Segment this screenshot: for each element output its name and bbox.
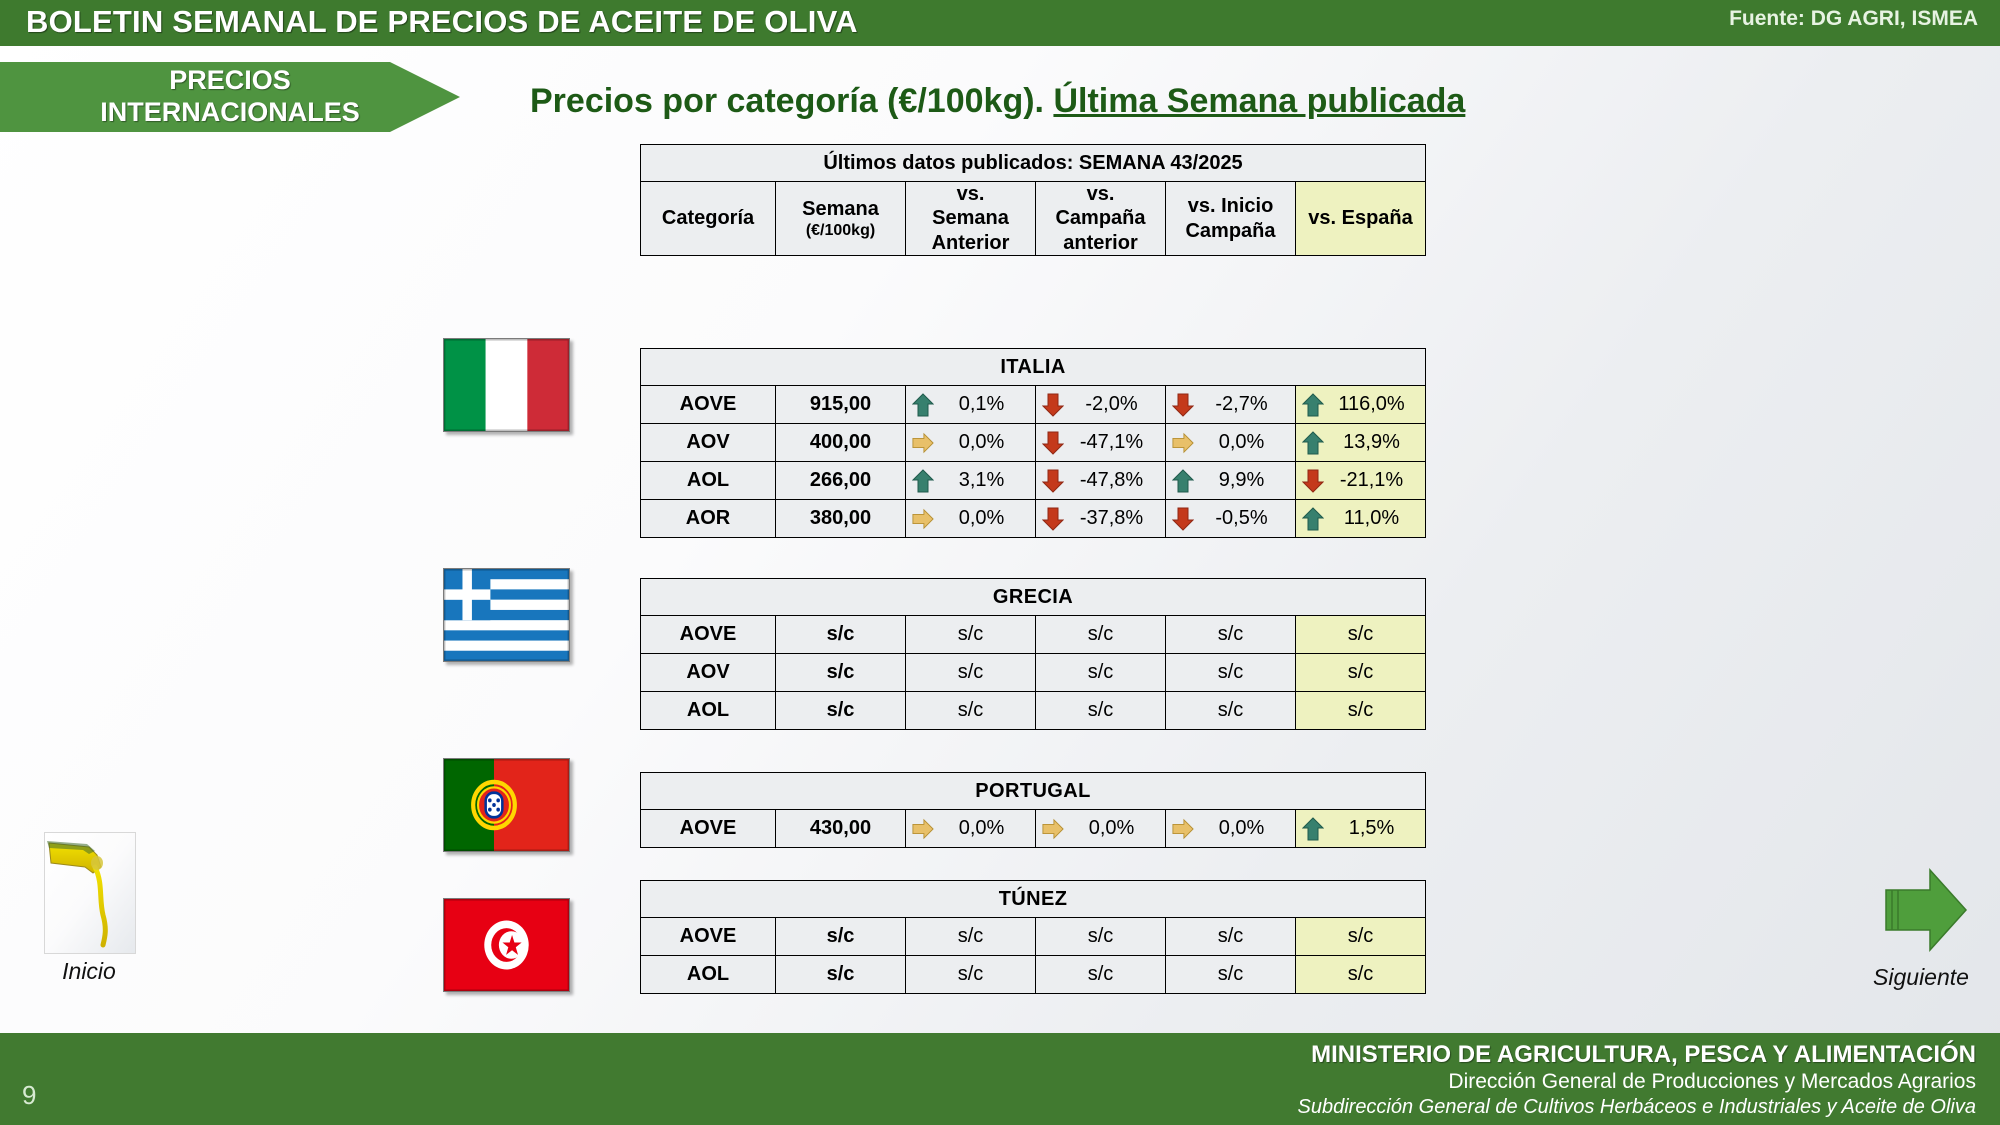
delta-vs-inicio-cell: s/c: [1166, 956, 1296, 994]
next-nav-button[interactable]: Siguiente: [1868, 868, 1968, 954]
arrow-down-icon: [1042, 393, 1064, 417]
table-column-header-row: Categoría Semana (€/100kg) vs. Semana An…: [641, 182, 1426, 256]
arrow-right-icon: [912, 431, 934, 455]
category-cell: AOL: [641, 462, 776, 500]
delta-vs-semana-cell: s/c: [906, 616, 1036, 654]
country-banner-italia: ITALIA: [641, 349, 1426, 386]
price-cell: 400,00: [776, 424, 906, 462]
delta-vs-semana-cell: 0,0%: [906, 424, 1036, 462]
price-cell: 430,00: [776, 810, 906, 848]
next-nav-label: Siguiente: [1846, 964, 1996, 991]
country-table-portugal: PORTUGAL AOVE 430,00 0,0% 0,0% 0,0% 1,5%: [640, 772, 1426, 848]
table-row: AOR 380,00 0,0% -37,8% -0,5% 11,0%: [641, 500, 1426, 538]
delta-vs-semana-cell: s/c: [906, 654, 1036, 692]
table-row: AOV 400,00 0,0% -47,1% 0,0% 13,9%: [641, 424, 1426, 462]
delta-vs-espana-cell: s/c: [1296, 918, 1426, 956]
page-number: 9: [22, 1080, 36, 1111]
slide-title: Precios por categoría (€/100kg). Última …: [530, 82, 1465, 121]
price-cell: 915,00: [776, 386, 906, 424]
delta-vs-inicio-cell: s/c: [1166, 918, 1296, 956]
delta-vs-espana-cell: s/c: [1296, 654, 1426, 692]
portugal-table: PORTUGAL AOVE 430,00 0,0% 0,0% 0,0% 1,5%: [640, 772, 1426, 848]
footer-ministry: MINISTERIO DE AGRICULTURA, PESCA Y ALIME…: [1298, 1041, 1977, 1069]
flag-italy-icon: [443, 338, 570, 432]
delta-vs-campana-cell: -37,8%: [1036, 500, 1166, 538]
country-table-tunez: TÚNEZ AOVE s/c s/c s/c s/c s/c AOL s/c s…: [640, 880, 1426, 994]
column-header-vs-campana-anterior: vs. Campaña anterior: [1036, 182, 1166, 256]
country-name-italia: ITALIA: [641, 349, 1426, 386]
column-header-semana-label: Semana: [802, 198, 879, 220]
slide-title-underlined: Última Semana publicada: [1053, 82, 1465, 120]
flag-tunisia-icon: [443, 898, 570, 992]
delta-vs-espana-cell: s/c: [1296, 616, 1426, 654]
delta-vs-inicio-cell: 9,9%: [1166, 462, 1296, 500]
category-cell: AOVE: [641, 616, 776, 654]
footer-subdireccion: Subdirección General de Cultivos Herbáce…: [1298, 1095, 1977, 1119]
category-cell: AOV: [641, 654, 776, 692]
delta-vs-espana-cell: s/c: [1296, 692, 1426, 730]
footer-bar: MINISTERIO DE AGRICULTURA, PESCA Y ALIME…: [0, 1033, 2000, 1125]
column-header-categoria-label: Categoría: [662, 207, 754, 229]
arrow-right-icon: [1172, 431, 1194, 455]
delta-vs-espana-cell: 11,0%: [1296, 500, 1426, 538]
column-header-vs-semana-anterior: vs. Semana Anterior: [906, 182, 1036, 256]
delta-vs-semana-cell: 3,1%: [906, 462, 1036, 500]
delta-vs-campana-cell: -47,1%: [1036, 424, 1166, 462]
delta-vs-inicio-cell: -0,5%: [1166, 500, 1296, 538]
category-cell: AOL: [641, 692, 776, 730]
delta-vs-campana-cell: s/c: [1036, 616, 1166, 654]
table-row: AOV s/c s/c s/c s/c s/c: [641, 654, 1426, 692]
delta-vs-espana-cell: 13,9%: [1296, 424, 1426, 462]
delta-vs-campana-cell: -47,8%: [1036, 462, 1166, 500]
table-row: AOVE 430,00 0,0% 0,0% 0,0% 1,5%: [641, 810, 1426, 848]
delta-vs-inicio-cell: s/c: [1166, 616, 1296, 654]
flag-greece-icon: [443, 568, 570, 662]
country-banner-portugal: PORTUGAL: [641, 773, 1426, 810]
price-cell: 266,00: [776, 462, 906, 500]
price-cell: s/c: [776, 956, 906, 994]
delta-vs-campana-cell: -2,0%: [1036, 386, 1166, 424]
delta-vs-inicio-cell: -2,7%: [1166, 386, 1296, 424]
footer-direccion: Dirección General de Producciones y Merc…: [1298, 1069, 1977, 1094]
price-cell: s/c: [776, 692, 906, 730]
arrow-up-icon: [912, 469, 934, 493]
arrow-up-icon: [1302, 507, 1324, 531]
delta-vs-semana-cell: s/c: [906, 692, 1036, 730]
delta-vs-campana-cell: s/c: [1036, 956, 1166, 994]
column-header-semana: Semana (€/100kg): [776, 182, 906, 256]
table-row: AOL 266,00 3,1% -47,8% 9,9% -21,1%: [641, 462, 1426, 500]
arrow-up-icon: [1172, 469, 1194, 493]
flag-portugal-icon: [443, 758, 570, 852]
delta-vs-semana-cell: 0,0%: [906, 810, 1036, 848]
arrow-down-icon: [1042, 469, 1064, 493]
table-row: AOVE s/c s/c s/c s/c s/c: [641, 616, 1426, 654]
grecia-table: GRECIA AOVE s/c s/c s/c s/c s/c AOV s/c …: [640, 578, 1426, 730]
price-cell: s/c: [776, 654, 906, 692]
delta-vs-inicio-cell: s/c: [1166, 692, 1296, 730]
table-row: AOL s/c s/c s/c s/c s/c: [641, 956, 1426, 994]
footer-text-block: MINISTERIO DE AGRICULTURA, PESCA Y ALIME…: [1298, 1041, 1977, 1119]
country-table-italia: ITALIA AOVE 915,00 0,1% -2,0% -2,7% 116,…: [640, 348, 1426, 538]
delta-vs-semana-cell: s/c: [906, 956, 1036, 994]
country-banner-grecia: GRECIA: [641, 579, 1426, 616]
table-row: AOL s/c s/c s/c s/c s/c: [641, 692, 1426, 730]
arrow-down-icon: [1172, 393, 1194, 417]
category-cell: AOVE: [641, 918, 776, 956]
category-cell: AOV: [641, 424, 776, 462]
arrow-down-icon: [1042, 431, 1064, 455]
delta-vs-campana-cell: s/c: [1036, 692, 1166, 730]
top-header-bar: BOLETIN SEMANAL DE PRECIOS DE ACEITE DE …: [0, 0, 2000, 46]
delta-vs-espana-cell: -21,1%: [1296, 462, 1426, 500]
category-cell: AOVE: [641, 386, 776, 424]
category-cell: AOVE: [641, 810, 776, 848]
country-name-tunez: TÚNEZ: [641, 881, 1426, 918]
column-header-vs-espana: vs. España: [1296, 182, 1426, 256]
section-banner-line1: PRECIOS: [40, 65, 420, 97]
column-header-vs-inicio-campana: vs. Inicio Campaña: [1166, 182, 1296, 256]
page-title: BOLETIN SEMANAL DE PRECIOS DE ACEITE DE …: [26, 4, 858, 40]
arrow-up-icon: [1302, 817, 1324, 841]
home-nav-label: Inicio: [30, 958, 148, 985]
right-arrow-icon: [1868, 868, 1968, 954]
table-row: AOVE 915,00 0,1% -2,0% -2,7% 116,0%: [641, 386, 1426, 424]
country-name-portugal: PORTUGAL: [641, 773, 1426, 810]
slide-title-plain: Precios por categoría (€/100kg).: [530, 82, 1053, 120]
delta-vs-semana-cell: 0,1%: [906, 386, 1036, 424]
delta-vs-semana-cell: 0,0%: [906, 500, 1036, 538]
price-cell: s/c: [776, 918, 906, 956]
arrow-up-icon: [912, 393, 934, 417]
section-banner-line2: INTERNACIONALES: [40, 97, 420, 129]
section-banner-precios-internacionales[interactable]: PRECIOS INTERNACIONALES: [0, 62, 460, 132]
category-cell: AOR: [641, 500, 776, 538]
arrow-up-icon: [1302, 393, 1324, 417]
delta-vs-semana-cell: s/c: [906, 918, 1036, 956]
country-name-grecia: GRECIA: [641, 579, 1426, 616]
arrow-right-icon: [912, 507, 934, 531]
delta-vs-campana-cell: s/c: [1036, 654, 1166, 692]
latest-data-banner: Últimos datos publicados: SEMANA 43/2025: [641, 145, 1426, 182]
category-cell: AOL: [641, 956, 776, 994]
delta-vs-inicio-cell: s/c: [1166, 654, 1296, 692]
arrow-down-icon: [1042, 507, 1064, 531]
home-nav-button[interactable]: Inicio: [44, 832, 134, 952]
price-cell: s/c: [776, 616, 906, 654]
delta-vs-campana-cell: 0,0%: [1036, 810, 1166, 848]
header-table: Últimos datos publicados: SEMANA 43/2025…: [640, 144, 1426, 256]
arrow-down-icon: [1172, 507, 1194, 531]
delta-vs-espana-cell: 116,0%: [1296, 386, 1426, 424]
olive-oil-bottle-icon: [44, 832, 136, 954]
arrow-right-icon: [1042, 817, 1064, 841]
price-cell: 380,00: [776, 500, 906, 538]
column-header-categoria: Categoría: [641, 182, 776, 256]
table-header-banner-row: Últimos datos publicados: SEMANA 43/2025: [641, 145, 1426, 182]
table-row: AOVE s/c s/c s/c s/c s/c: [641, 918, 1426, 956]
column-header-semana-unit: (€/100kg): [780, 221, 901, 241]
arrow-up-icon: [1302, 431, 1324, 455]
country-banner-tunez: TÚNEZ: [641, 881, 1426, 918]
section-banner-text: PRECIOS INTERNACIONALES: [40, 65, 420, 129]
delta-vs-espana-cell: s/c: [1296, 956, 1426, 994]
table-header-block: Últimos datos publicados: SEMANA 43/2025…: [640, 144, 1426, 256]
italia-table: ITALIA AOVE 915,00 0,1% -2,0% -2,7% 116,…: [640, 348, 1426, 538]
delta-vs-inicio-cell: 0,0%: [1166, 424, 1296, 462]
country-table-grecia: GRECIA AOVE s/c s/c s/c s/c s/c AOV s/c …: [640, 578, 1426, 730]
delta-vs-campana-cell: s/c: [1036, 918, 1166, 956]
arrow-down-icon: [1302, 469, 1324, 493]
delta-vs-inicio-cell: 0,0%: [1166, 810, 1296, 848]
delta-vs-espana-cell: 1,5%: [1296, 810, 1426, 848]
arrow-right-icon: [1172, 817, 1194, 841]
source-label: Fuente: DG AGRI, ISMEA: [1729, 7, 1978, 31]
arrow-right-icon: [912, 817, 934, 841]
tunez-table: TÚNEZ AOVE s/c s/c s/c s/c s/c AOL s/c s…: [640, 880, 1426, 994]
